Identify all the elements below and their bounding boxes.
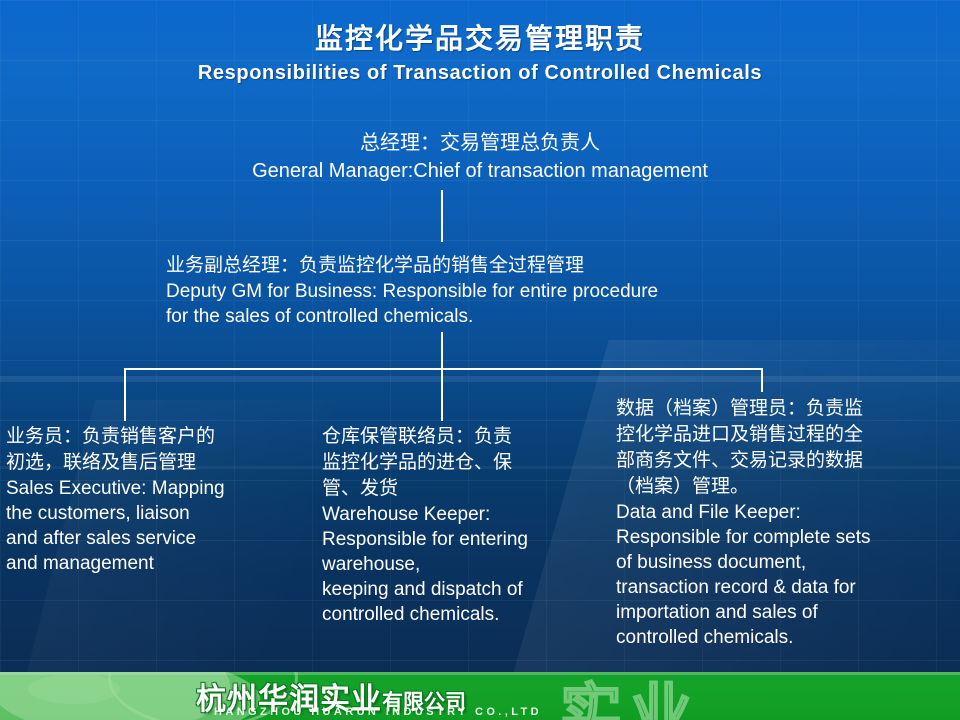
warehouse-keeper-chinese: 仓库保管联络员：负责 监控化学品的进仓、保 管、发货	[322, 424, 612, 502]
data-file-keeper-chinese: 数据（档案）管理员：负责监 控化学品进口及销售过程的全 部商务文件、交易记录的数…	[616, 396, 960, 500]
slide-title: 监控化学品交易管理职责 Responsibilities of Transact…	[0, 22, 960, 87]
footer-swoosh-graphic-3	[28, 674, 120, 704]
general-manager-chinese: 总经理：交易管理总负责人	[0, 130, 960, 157]
org-node-warehouse-keeper: 仓库保管联络员：负责 监控化学品的进仓、保 管、发货 Warehouse Kee…	[322, 424, 612, 627]
deputy-gm-chinese: 业务副总经理：负责监控化学品的销售全过程管理	[166, 252, 866, 279]
title-chinese: 监控化学品交易管理职责	[0, 22, 960, 56]
data-file-keeper-english: Data and File Keeper: Responsible for co…	[616, 500, 960, 650]
footer-watermark-text: 实业	[560, 672, 700, 720]
org-node-general-manager: 总经理：交易管理总负责人 General Manager:Chief of tr…	[0, 130, 960, 185]
sales-executive-chinese: 业务员：负责销售客户的 初选，联络及售后管理	[6, 424, 306, 476]
footer-logo-banner: 实业 杭州华润实业有限公司 HANGZHOU HUARUN INDUSTRY C…	[0, 672, 960, 720]
warehouse-keeper-english: Warehouse Keeper: Responsible for enteri…	[322, 502, 612, 627]
connector-bus-to-data-keeper	[761, 368, 763, 392]
background-band-upper	[0, 376, 960, 382]
company-name-english: HANGZHOU HUARUN INDUSTRY CO.,LTD	[214, 706, 542, 718]
connector-bus-to-warehouse	[441, 368, 443, 421]
deputy-gm-english: Deputy GM for Business: Responsible for …	[166, 279, 866, 329]
org-node-sales-executive: 业务员：负责销售客户的 初选，联络及售后管理 Sales Executive: …	[6, 424, 306, 576]
connector-deputy-to-bus	[441, 332, 443, 369]
org-node-deputy-gm: 业务副总经理：负责监控化学品的销售全过程管理 Deputy GM for Bus…	[166, 252, 866, 329]
connector-gm-to-deputy	[441, 190, 443, 242]
org-node-data-file-keeper: 数据（档案）管理员：负责监 控化学品进口及销售过程的全 部商务文件、交易记录的数…	[616, 396, 960, 650]
connector-horizontal-bus	[124, 368, 763, 370]
title-english: Responsibilities of Transaction of Contr…	[0, 59, 960, 87]
slide: 监控化学品交易管理职责 Responsibilities of Transact…	[0, 0, 960, 720]
general-manager-english: General Manager:Chief of transaction man…	[0, 157, 960, 185]
sales-executive-english: Sales Executive: Mapping the customers, …	[6, 476, 306, 576]
connector-bus-to-sales	[124, 368, 126, 421]
